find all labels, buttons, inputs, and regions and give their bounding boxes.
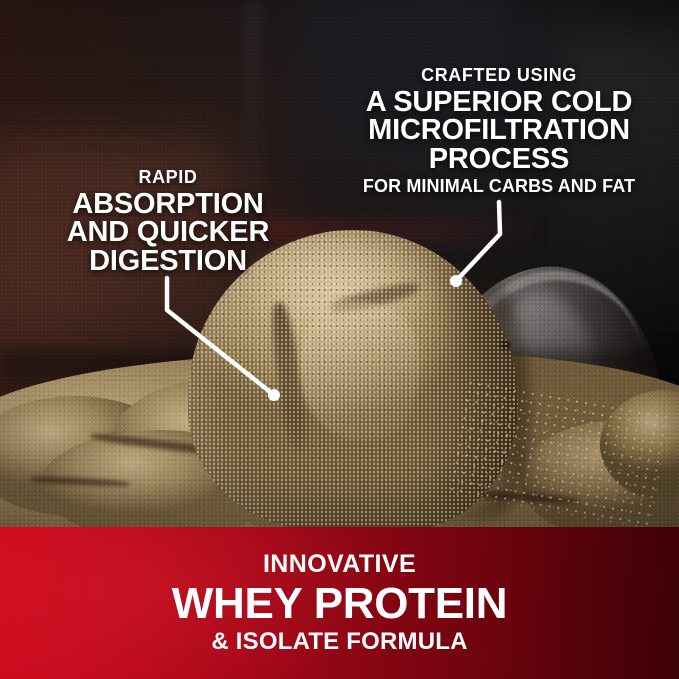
leader-dot-left xyxy=(268,389,280,401)
callout-cold-microfiltration: CRAFTED USING A SUPERIOR COLD MICROFILTR… xyxy=(344,66,654,197)
callout-left-headline-line-3: DIGESTION xyxy=(33,247,303,275)
bottom-banner: INNOVATIVE WHEY PROTEIN & ISOLATE FORMUL… xyxy=(0,527,679,679)
banner-line-2: WHEY PROTEIN xyxy=(172,581,507,627)
leader-dot-right xyxy=(450,275,462,287)
banner-line-3: & ISOLATE FORMULA xyxy=(211,630,467,654)
callout-right-subline: FOR MINIMAL CARBS AND FAT xyxy=(344,177,654,197)
leader-line-right xyxy=(456,202,500,281)
infographic-stage: CRAFTED USING A SUPERIOR COLD MICROFILTR… xyxy=(0,0,679,679)
product-photo: CRAFTED USING A SUPERIOR COLD MICROFILTR… xyxy=(0,0,679,527)
callout-left-eyebrow: RAPID xyxy=(33,168,303,187)
callout-right-eyebrow: CRAFTED USING xyxy=(344,66,654,85)
callout-rapid-absorption: RAPID ABSORPTION AND QUICKER DIGESTION xyxy=(33,168,303,275)
leader-line-left xyxy=(167,278,274,395)
callout-right-headline-line-3: PROCESS xyxy=(344,145,654,173)
callout-left-headline-line-2: AND QUICKER xyxy=(33,218,303,246)
callout-right-headline-line-2: MICROFILTRATION xyxy=(344,116,654,144)
banner-line-1: INNOVATIVE xyxy=(263,552,416,577)
callout-left-headline-line-1: ABSORPTION xyxy=(33,190,303,218)
callout-right-headline-line-1: A SUPERIOR COLD xyxy=(344,88,654,116)
